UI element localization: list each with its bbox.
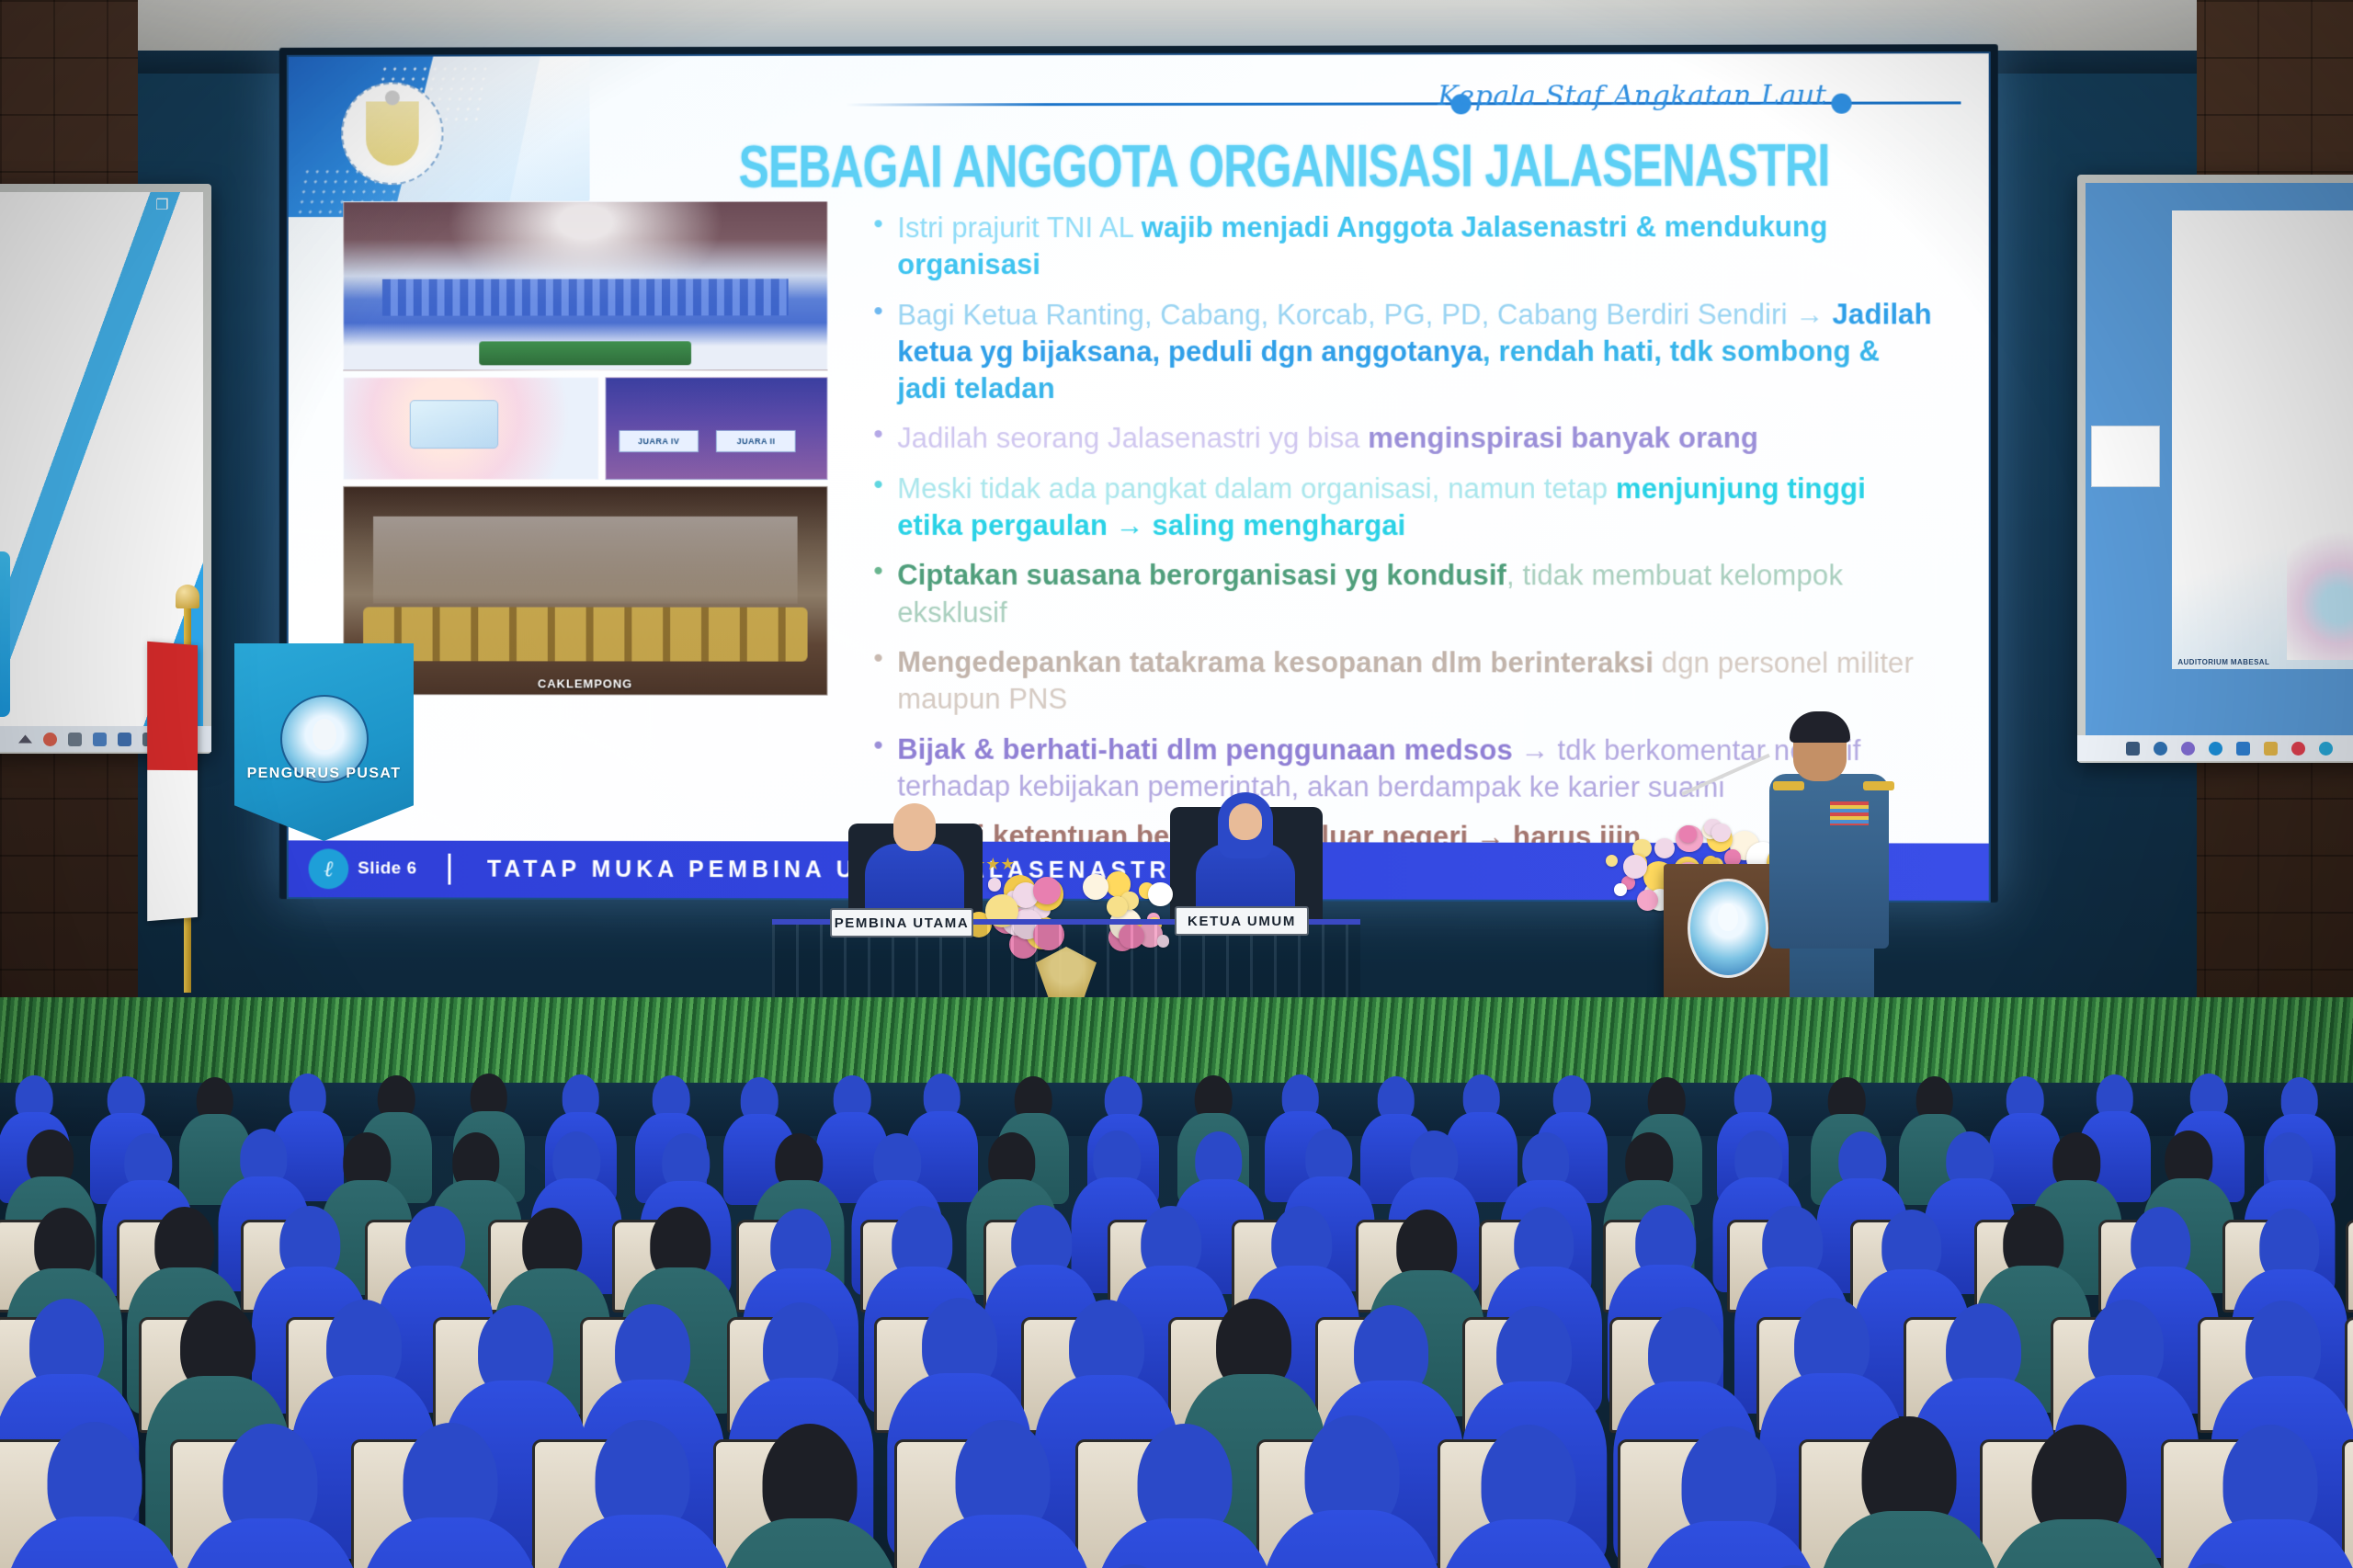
audience-member — [2179, 1425, 2353, 1568]
bullet-plain: Jadilah seorang Jalasenastri yg bisa — [897, 422, 1368, 454]
audience-member — [359, 1423, 541, 1568]
flower-blossom — [1637, 890, 1658, 911]
flower-blossom — [1148, 882, 1172, 906]
right-monitor-taskbar[interactable] — [2077, 735, 2353, 761]
navy-officer-speaker — [1769, 717, 1898, 1029]
photo-smartphone-social-media — [343, 377, 598, 480]
explorer-icon[interactable] — [2264, 742, 2278, 756]
photo-caklempong-gamelan: CAKLEMPONG — [343, 486, 827, 696]
audience-member — [1094, 1424, 1276, 1568]
bullet-marker-icon: • — [873, 644, 897, 719]
bullet-marker-icon: • — [873, 557, 897, 631]
audience-member — [719, 1424, 901, 1568]
maximize-icon[interactable]: ❐ — [155, 196, 168, 214]
audience-torso — [1094, 1518, 1276, 1568]
bullet-plain: Bagi Ketua Ranting, Cabang, Korcab, PG, … — [897, 298, 1832, 331]
audience-member — [1063, 1564, 1201, 1568]
bullet-marker-icon: • — [873, 297, 897, 408]
bullet-marker-icon: • — [873, 731, 897, 805]
edge-icon[interactable] — [2209, 742, 2222, 756]
audience-member — [179, 1424, 361, 1568]
audience-torso — [1261, 1510, 1443, 1568]
indonesian-flag — [147, 642, 198, 921]
teams-icon[interactable] — [2181, 742, 2195, 756]
bullet-emphasis: Mengedepankan tatakrama kesopanan dlm be… — [897, 646, 1654, 679]
audience-member — [1638, 1426, 1820, 1568]
search-icon[interactable] — [2154, 742, 2167, 756]
flower-blossom — [1614, 883, 1627, 896]
slide-number-label: Slide 6 — [358, 858, 416, 879]
slide-badge-icon: ℓ — [309, 848, 349, 889]
seated-pembina-utama — [859, 818, 970, 919]
window-controls[interactable]: – ❐ ✕ — [132, 196, 196, 214]
minimize-icon[interactable]: – — [132, 196, 141, 214]
audience-member — [4, 1422, 186, 1568]
audience-torso — [1988, 1519, 2170, 1568]
mirrored-attendee — [0, 551, 10, 717]
photo-collage: JUARA IV JUARA II CAKLEMPONG — [343, 200, 827, 695]
audience-torso — [179, 1518, 361, 1568]
audience-hijab — [1097, 1564, 1168, 1568]
slide-bullet-3: •Jadilah seorang Jalasenastri yg bisa me… — [873, 420, 1937, 458]
chevron-up-icon[interactable] — [18, 733, 32, 746]
opera-icon[interactable] — [2291, 742, 2305, 756]
slide-bullet-5: •Ciptakan suasana berorganisasi yg kondu… — [873, 557, 1937, 631]
audience-member — [2142, 1563, 2279, 1568]
seated-audience — [0, 1057, 2353, 1568]
photo-auditorium-ceremony — [343, 200, 827, 370]
audience-torso — [719, 1518, 901, 1568]
flower-blossom — [1623, 855, 1646, 878]
audience-member — [1818, 1416, 2000, 1568]
seated-ketua-umum — [1181, 801, 1310, 919]
nameplate-pembina-utama: PEMBINA UTAMA — [830, 908, 973, 937]
bullet-emphasis: menginspirasi banyak orang — [1368, 422, 1758, 454]
pennant-label: PENGURUS PUSAT — [234, 766, 414, 782]
main-projection-screen: Kepala Staf Angkatan Laut SEBAGAI ANGGOT… — [279, 44, 1998, 903]
audience-member — [1261, 1415, 1443, 1568]
bullet-marker-icon: • — [873, 471, 897, 545]
flower-blossom — [988, 878, 1001, 891]
audience-torso — [912, 1515, 1094, 1568]
juara-label-1: JUARA IV — [619, 431, 698, 453]
juara-label-2: JUARA II — [716, 430, 796, 452]
document-window[interactable]: AUDITORIUM MABESAL — [2172, 210, 2353, 669]
flower-blossom — [1654, 838, 1675, 858]
audience-member — [551, 1420, 733, 1568]
slide-bullet-6: •Mengedepankan tatakrama kesopanan dlm b… — [873, 644, 1937, 720]
jalasenastri-emblem-icon — [341, 82, 443, 185]
audience-torso — [551, 1515, 733, 1568]
widgets-icon[interactable] — [2236, 742, 2250, 756]
bullet-text: Ciptakan suasana berorganisasi yg kondus… — [897, 557, 1937, 631]
bullet-plain: Istri prajurit TNI AL — [897, 211, 1141, 244]
nameplate-ketua-umum: KETUA UMUM — [1175, 906, 1309, 936]
right-confidence-monitor[interactable]: AUDITORIUM MABESAL — [2077, 175, 2353, 763]
audience-torso — [1438, 1519, 1620, 1568]
close-icon[interactable]: ✕ — [184, 196, 196, 214]
bullet-marker-icon: • — [873, 210, 897, 284]
audience-torso — [1818, 1511, 2000, 1568]
slide-bullet-2: •Bagi Ketua Ranting, Cabang, Korcab, PG,… — [873, 296, 1937, 408]
flower-blossom — [1606, 855, 1618, 867]
auditorium-scene: – ❐ ✕ AUDITORIUM MABESAL — [0, 0, 2353, 1568]
audience-member — [912, 1420, 1094, 1568]
jalasenastri-pennant: PENGURUS PUSAT — [234, 643, 414, 841]
audience-member — [1438, 1425, 1620, 1568]
bullet-plain: Meski tidak ada pangkat dalam organisasi… — [897, 472, 1616, 505]
bullet-marker-icon: • — [873, 421, 897, 458]
right-monitor-screen: AUDITORIUM MABESAL — [2086, 183, 2353, 735]
footer-separator — [448, 854, 450, 885]
bullet-text: Mengedepankan tatakrama kesopanan dlm be… — [897, 644, 1937, 720]
document-flower-graphic — [2287, 522, 2353, 660]
audience-torso — [4, 1517, 186, 1568]
flower-blossom — [1711, 824, 1730, 842]
photo-juara-award: JUARA IV JUARA II — [605, 377, 827, 480]
desktop-thumbnail[interactable] — [2091, 426, 2160, 486]
slide-header-script: Kepala Staf Angkatan Laut — [1438, 80, 1826, 113]
bullet-text: Istri prajurit TNI AL wajib menjadi Angg… — [897, 209, 1937, 284]
flower-blossom — [1033, 877, 1060, 903]
camera-icon[interactable] — [118, 733, 131, 746]
bullet-emphasis: Bijak & berhati-hati dlm penggunaan meds… — [897, 733, 1512, 766]
document-title-label: AUDITORIUM MABESAL — [2177, 658, 2269, 666]
bullet-text: Meski tidak ada pangkat dalam organisasi… — [897, 471, 1937, 545]
cloud-icon[interactable] — [43, 733, 57, 746]
slide-title: SEBAGAI ANGGOTA ORGANISASI JALASENASTRI — [739, 131, 1802, 201]
slide-bullet-4: •Meski tidak ada pangkat dalam organisas… — [873, 471, 1937, 545]
folder-icon[interactable] — [93, 733, 107, 746]
windows-start-icon[interactable] — [2126, 742, 2140, 756]
presentation-slide: Kepala Staf Angkatan Laut SEBAGAI ANGGOT… — [287, 51, 1991, 903]
document-icon[interactable] — [68, 733, 82, 746]
podium-emblem-icon — [1688, 879, 1768, 978]
audience-torso — [1638, 1521, 1820, 1568]
flower-blossom — [1083, 874, 1108, 900]
audience-hijab — [2175, 1563, 2246, 1568]
audience-torso — [2179, 1519, 2353, 1568]
app-icon[interactable] — [2319, 742, 2333, 756]
audience-torso — [359, 1517, 541, 1568]
audience-member — [1988, 1425, 2170, 1568]
bullet-text: Bagi Ketua Ranting, Cabang, Korcab, PG, … — [897, 296, 1937, 408]
flower-blossom — [1107, 896, 1128, 917]
bullet-emphasis: Ciptakan suasana berorganisasi yg kondus… — [897, 559, 1506, 591]
slide-bullet-1: •Istri prajurit TNI AL wajib menjadi Ang… — [873, 209, 1937, 284]
bullet-text: Jadilah seorang Jalasenastri yg bisa men… — [897, 420, 1758, 457]
caklempong-caption: CAKLEMPONG — [344, 676, 826, 690]
header-dot-right — [1831, 94, 1851, 114]
